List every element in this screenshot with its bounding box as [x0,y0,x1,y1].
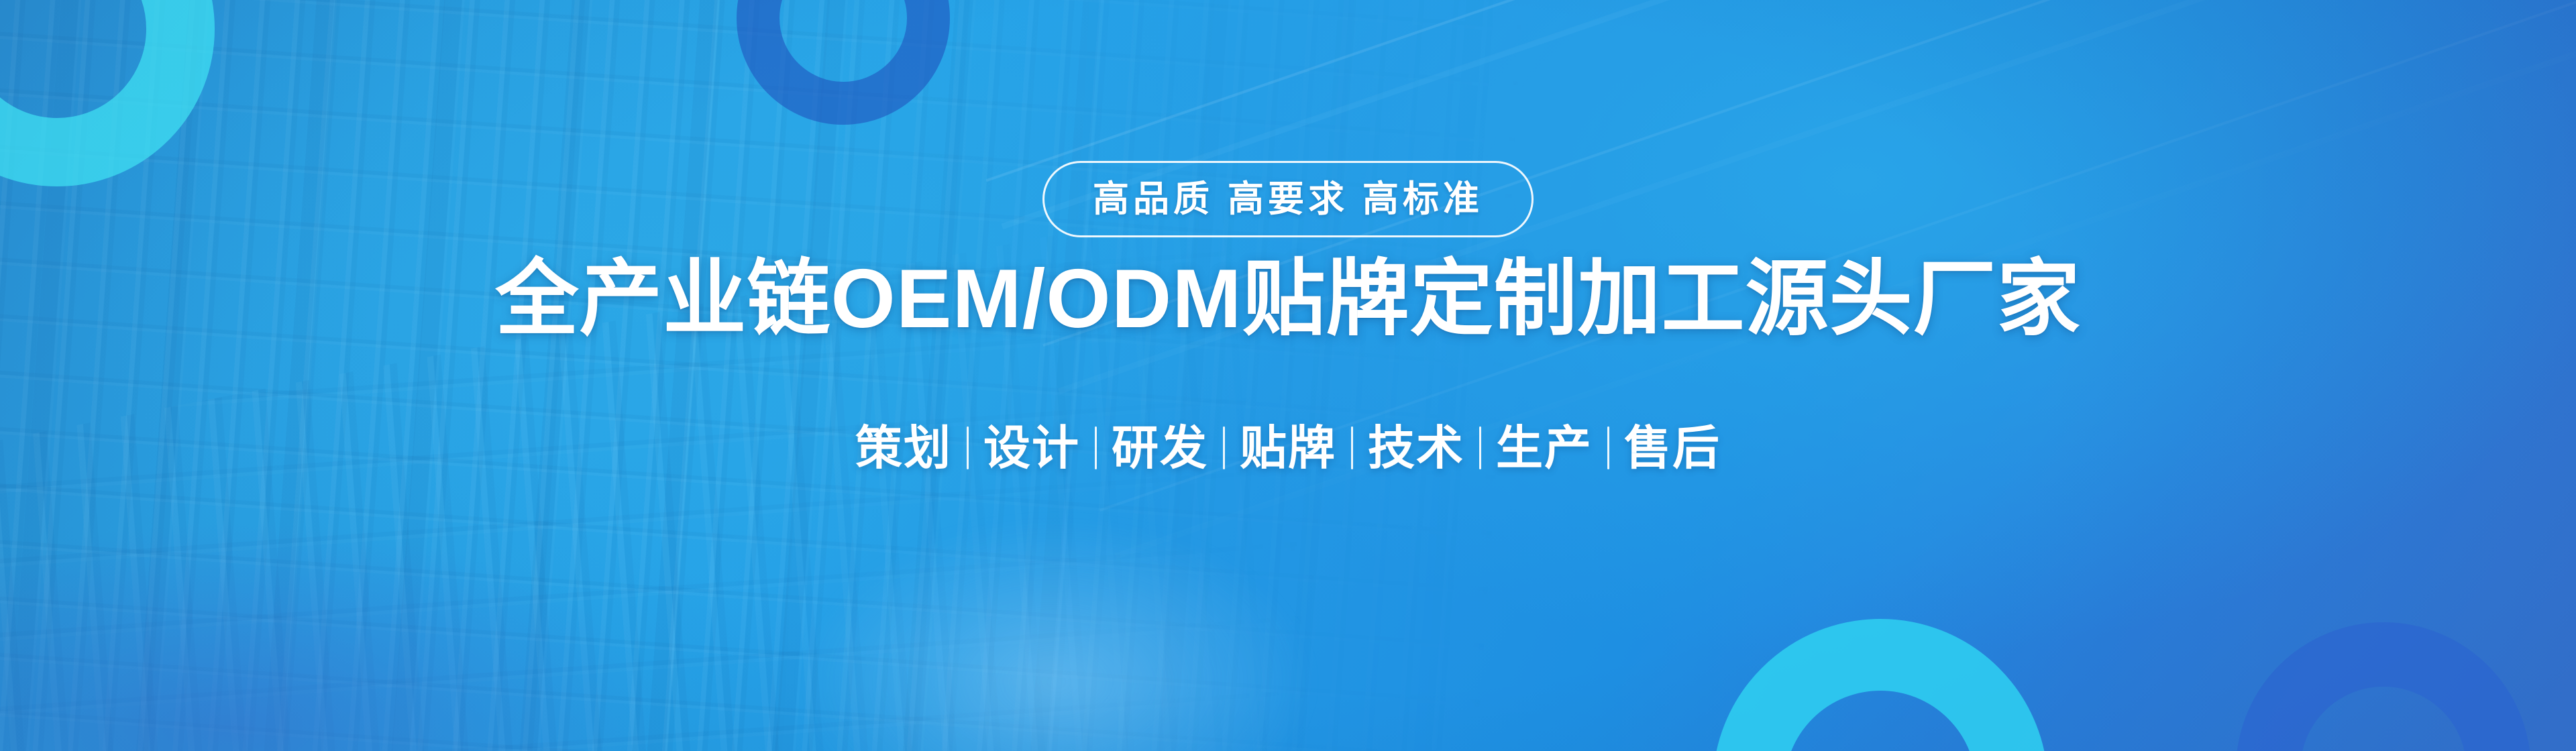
promo-banner: 高品质 高要求 高标准 全产业链OEM/ODM贴牌定制加工源头厂家 策划 设计 … [0,0,2576,751]
quality-badge: 高品质 高要求 高标准 [1042,161,1534,237]
service-list: 策划 设计 研发 贴牌 技术 生产 售后 [841,424,1735,471]
service-item-1: 设计 [969,424,1095,471]
service-item-5: 生产 [1481,424,1607,471]
service-item-0: 策划 [841,424,967,471]
service-item-2: 研发 [1097,424,1223,471]
banner-content: 高品质 高要求 高标准 全产业链OEM/ODM贴牌定制加工源头厂家 策划 设计 … [0,0,2576,751]
service-item-6: 售后 [1609,424,1735,471]
service-item-4: 技术 [1353,424,1479,471]
service-item-3: 贴牌 [1225,424,1351,471]
banner-headline: 全产业链OEM/ODM贴牌定制加工源头厂家 [495,255,2080,345]
quality-badge-label: 高品质 高要求 高标准 [1093,181,1483,217]
